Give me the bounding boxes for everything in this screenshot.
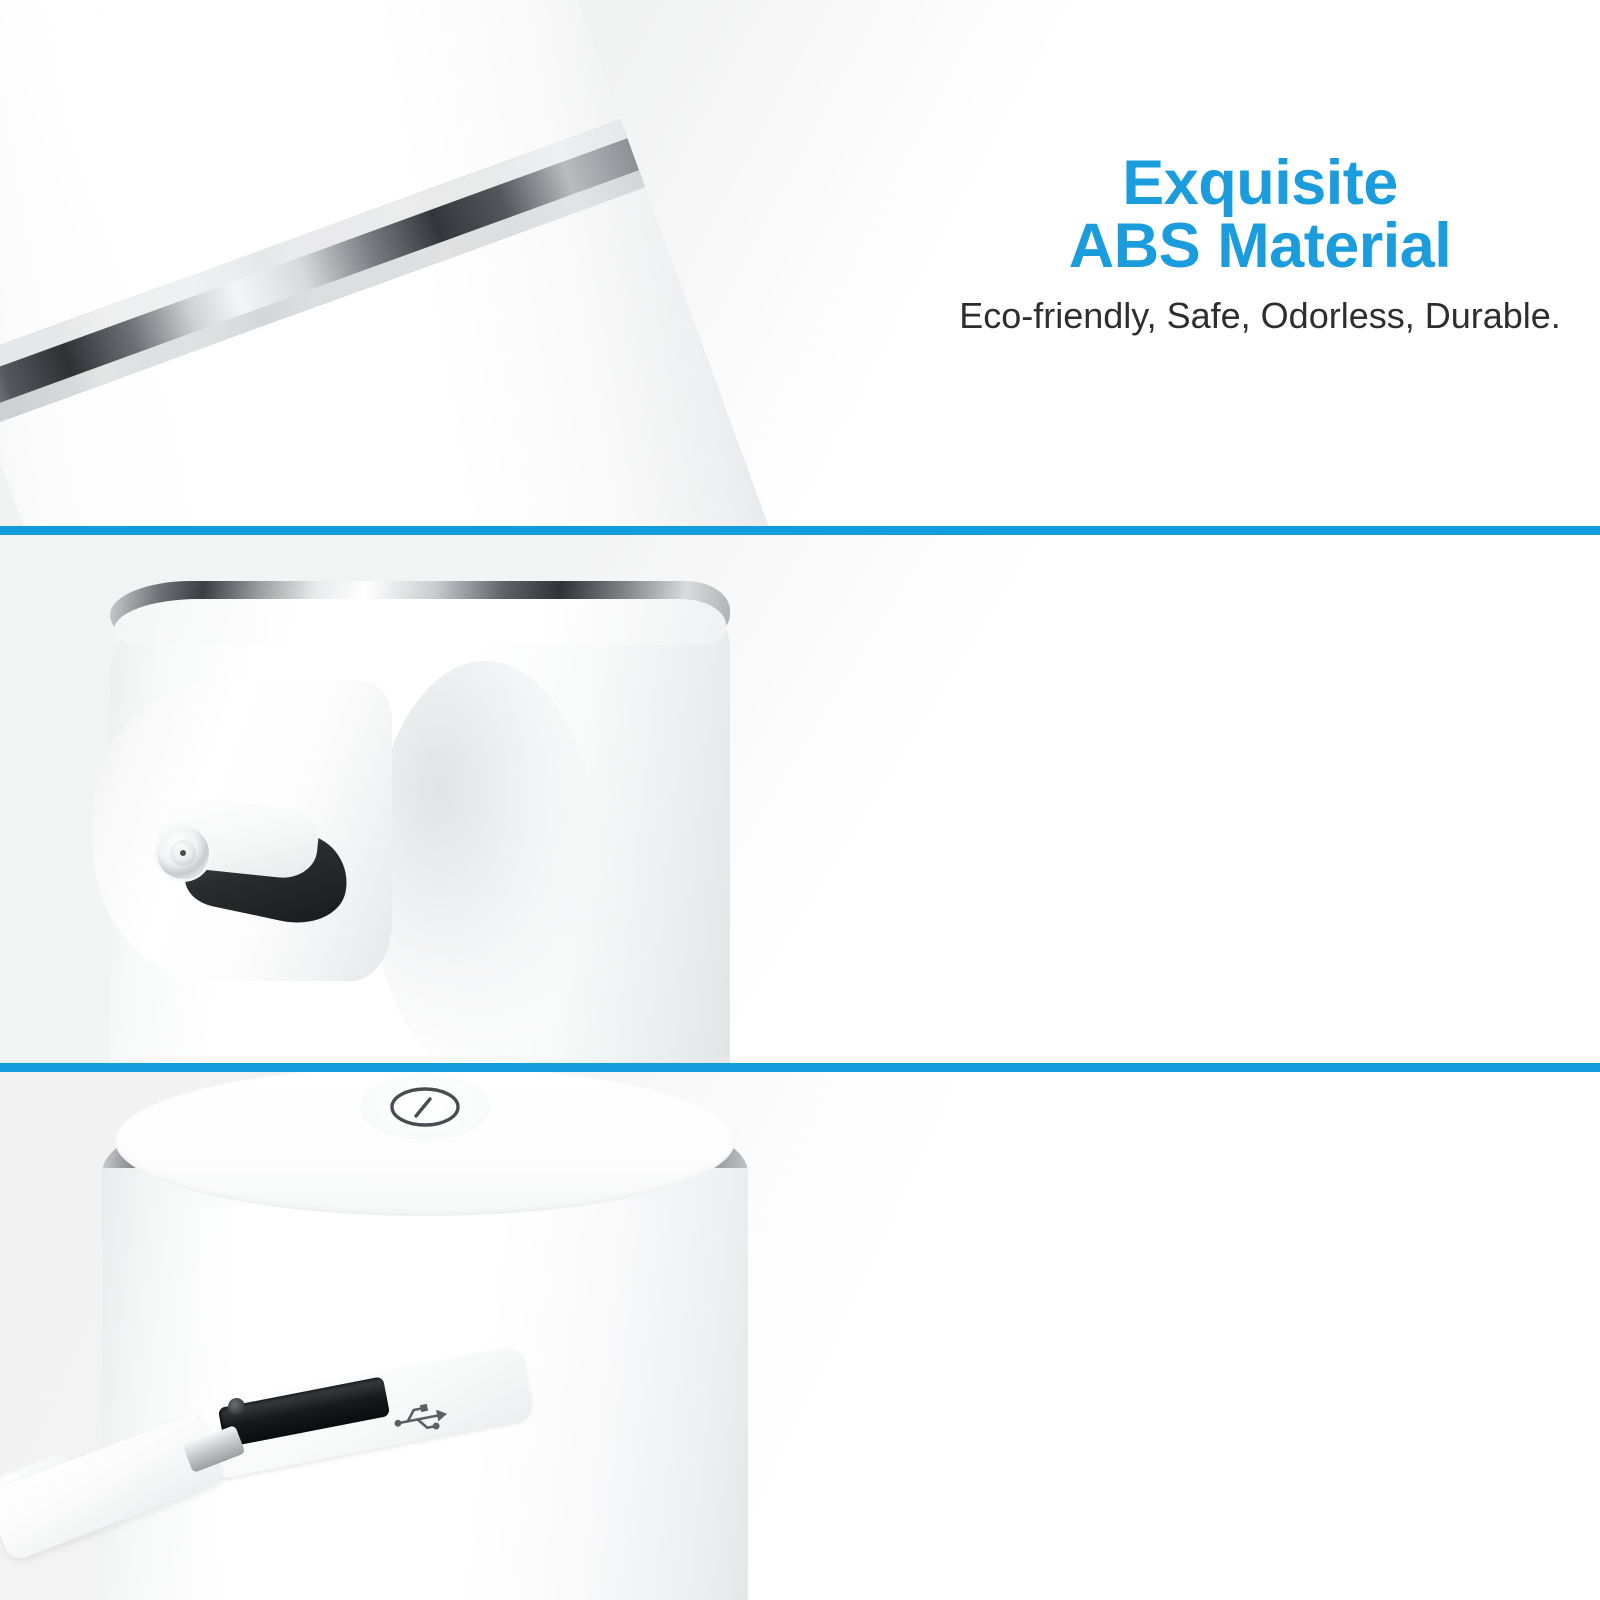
feature-subtitle: Eco-friendly, Safe, Odorless, Durable.: [930, 294, 1590, 337]
product-photo-abs-body: [0, 0, 1031, 529]
section-divider-1: [0, 526, 1600, 535]
lid-top-surface: [114, 599, 726, 645]
headline-line-2: ABS Material: [930, 215, 1590, 278]
feature-panel-infrared-sensor: Smart Infrared Sensor Touchless, Hygieni…: [0, 535, 1600, 1065]
section-divider-2: [0, 1063, 1600, 1072]
feature-headline: Exquisite ABS Material: [930, 152, 1590, 278]
power-icon: [386, 1084, 464, 1130]
tank-shading: [370, 661, 600, 1065]
feature-panel-abs-material: Exquisite ABS Material Eco-friendly, Saf…: [0, 0, 1600, 529]
product-photo-sensor-head: [40, 541, 800, 1065]
infrared-sensor-lens-dot: [180, 850, 186, 856]
product-feature-infographic: Exquisite ABS Material Eco-friendly, Saf…: [0, 0, 1600, 1600]
product-photo-charging-port: [60, 1072, 840, 1600]
headline-line-1: Exquisite: [930, 152, 1590, 215]
power-button[interactable]: [360, 1074, 490, 1140]
feature-text-abs-material: Exquisite ABS Material Eco-friendly, Saf…: [930, 152, 1590, 337]
feature-panel-usb-c-charging: USB-C Charging Port Charging 2-3 Hours, …: [0, 1072, 1600, 1600]
